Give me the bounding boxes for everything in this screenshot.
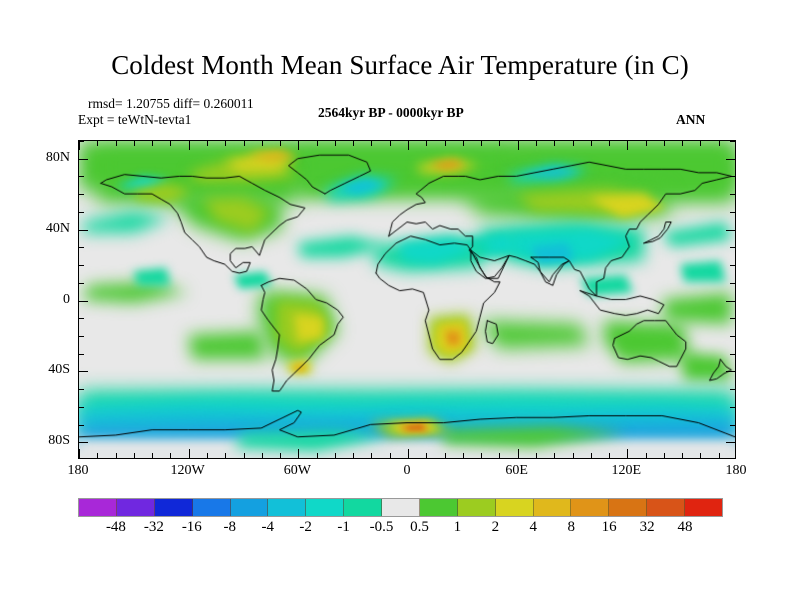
x-tick-top <box>518 141 519 150</box>
period-annotation: 2564kyr BP - 0000kyr BP <box>318 105 464 121</box>
colorbar-tick-label: 16 <box>602 519 617 536</box>
y-tick-right <box>726 159 735 160</box>
colorbar-tick-label: 2 <box>492 519 500 536</box>
colorbar-bin <box>609 499 647 516</box>
y-axis-label: 40N <box>20 221 70 237</box>
x-tick-top <box>682 141 683 146</box>
colorbar-tick-label: 1 <box>454 519 462 536</box>
colorbar-tick-label: 48 <box>678 519 693 536</box>
x-tick-bottom <box>518 449 519 458</box>
y-tick-right <box>730 176 735 177</box>
y-tick-left <box>79 407 84 408</box>
x-axis-label: 0 <box>404 463 411 479</box>
x-tick-bottom <box>317 453 318 458</box>
x-tick-bottom <box>664 453 665 458</box>
x-tick-bottom <box>170 453 171 458</box>
y-tick-right <box>730 141 735 142</box>
colorbar-bin <box>685 499 722 516</box>
y-tick-left <box>79 265 84 266</box>
y-tick-right <box>730 265 735 266</box>
y-tick-left <box>79 442 88 443</box>
colorbar-tick-label: -16 <box>182 519 202 536</box>
x-tick-bottom <box>573 453 574 458</box>
colorbar-bin <box>382 499 420 516</box>
x-tick-bottom <box>700 453 701 458</box>
y-axis-label: 80N <box>20 150 70 166</box>
colorbar-tick-label: 0.5 <box>410 519 429 536</box>
y-tick-right <box>730 336 735 337</box>
y-tick-left <box>79 354 84 355</box>
colorbar-bin <box>496 499 534 516</box>
x-tick-top <box>170 141 171 146</box>
season-annotation: ANN <box>676 112 705 128</box>
y-tick-right <box>730 425 735 426</box>
y-tick-right <box>730 194 735 195</box>
colorbar-bin <box>534 499 572 516</box>
y-axis-label: 80S <box>20 433 70 449</box>
x-tick-bottom <box>426 453 427 458</box>
x-axis-label: 60E <box>505 463 528 479</box>
x-tick-top <box>244 141 245 146</box>
colorbar-tick-label: -48 <box>106 519 126 536</box>
colorbar-bin <box>458 499 496 516</box>
y-tick-right <box>730 283 735 284</box>
x-tick-top <box>116 141 117 146</box>
x-axis-label: 180 <box>68 463 89 479</box>
colorbar-tick-label: 32 <box>640 519 655 536</box>
x-tick-top <box>189 141 190 150</box>
x-tick-top <box>463 141 464 146</box>
x-tick-bottom <box>79 449 80 458</box>
x-tick-top <box>298 141 299 150</box>
x-tick-bottom <box>719 453 720 458</box>
y-tick-left <box>79 389 84 390</box>
colorbar-bin <box>193 499 231 516</box>
rmsd-diff-annotation: rmsd= 1.20755 diff= 0.260011 <box>88 96 254 112</box>
figure-root: Coldest Month Mean Surface Air Temperatu… <box>0 0 800 600</box>
colorbar-bin <box>647 499 685 516</box>
x-tick-top <box>627 141 628 150</box>
x-tick-bottom <box>554 453 555 458</box>
y-tick-right <box>730 407 735 408</box>
x-axis-label: 180 <box>726 463 747 479</box>
y-tick-left <box>79 425 84 426</box>
x-tick-bottom <box>280 453 281 458</box>
x-tick-bottom <box>335 453 336 458</box>
colorbar-bin <box>306 499 344 516</box>
x-tick-bottom <box>262 453 263 458</box>
colorbar-tick-label: -2 <box>299 519 312 536</box>
x-tick-top <box>426 141 427 146</box>
x-tick-bottom <box>371 453 372 458</box>
x-axis-label: 120E <box>612 463 642 479</box>
x-tick-top <box>445 141 446 146</box>
x-tick-bottom <box>152 453 153 458</box>
x-tick-bottom <box>408 449 409 458</box>
x-tick-bottom <box>116 453 117 458</box>
y-tick-left <box>79 247 84 248</box>
y-tick-right <box>730 212 735 213</box>
x-axis-label: 120W <box>171 463 205 479</box>
x-tick-top <box>152 141 153 146</box>
y-tick-left <box>79 318 84 319</box>
x-tick-top <box>609 141 610 146</box>
y-tick-right <box>726 301 735 302</box>
x-tick-top <box>335 141 336 146</box>
colorbar-tick-label: -1 <box>337 519 350 536</box>
x-tick-top <box>207 141 208 146</box>
colorbar-tick-label: -8 <box>224 519 237 536</box>
x-tick-bottom <box>207 453 208 458</box>
colorbar-bin <box>79 499 117 516</box>
x-tick-bottom <box>682 453 683 458</box>
x-tick-bottom <box>499 453 500 458</box>
x-tick-bottom <box>189 449 190 458</box>
x-tick-top <box>499 141 500 146</box>
x-tick-top <box>262 141 263 146</box>
x-tick-top <box>79 141 80 150</box>
x-tick-top <box>646 141 647 146</box>
colorbar-bin <box>268 499 306 516</box>
colorbar-bin <box>231 499 269 516</box>
temperature-anomaly-map <box>79 141 735 458</box>
x-tick-top <box>317 141 318 146</box>
x-tick-top <box>408 141 409 150</box>
y-tick-left <box>79 336 84 337</box>
y-tick-left <box>79 371 88 372</box>
y-axis-label: 0 <box>20 292 70 308</box>
figure-title: Coldest Month Mean Surface Air Temperatu… <box>0 50 800 81</box>
y-tick-right <box>730 354 735 355</box>
x-tick-bottom <box>134 453 135 458</box>
y-tick-left <box>79 301 88 302</box>
x-tick-bottom <box>591 453 592 458</box>
x-tick-bottom <box>536 453 537 458</box>
x-tick-bottom <box>225 453 226 458</box>
x-tick-top <box>225 141 226 146</box>
y-tick-right <box>730 318 735 319</box>
x-tick-top <box>390 141 391 146</box>
x-tick-bottom <box>445 453 446 458</box>
y-tick-right <box>726 371 735 372</box>
colorbar <box>78 498 723 517</box>
x-tick-bottom <box>627 449 628 458</box>
x-tick-top <box>280 141 281 146</box>
colorbar-bin <box>117 499 155 516</box>
colorbar-tick-label: -4 <box>261 519 274 536</box>
colorbar-bin <box>571 499 609 516</box>
x-tick-top <box>536 141 537 146</box>
x-tick-top <box>371 141 372 146</box>
map-plot-area <box>78 140 736 459</box>
x-tick-bottom <box>244 453 245 458</box>
y-axis-label: 40S <box>20 362 70 378</box>
colorbar-tick-label: -32 <box>144 519 164 536</box>
y-tick-left <box>79 212 84 213</box>
colorbar-tick-label: 8 <box>567 519 575 536</box>
y-tick-left <box>79 230 88 231</box>
colorbar-bin <box>344 499 382 516</box>
experiment-annotation: Expt = teWtN-tevta1 <box>78 112 191 128</box>
x-tick-bottom <box>646 453 647 458</box>
x-tick-top <box>719 141 720 146</box>
x-tick-bottom <box>298 449 299 458</box>
x-tick-top <box>481 141 482 146</box>
y-tick-right <box>730 247 735 248</box>
y-tick-left <box>79 194 84 195</box>
colorbar-bin <box>155 499 193 516</box>
x-tick-top <box>700 141 701 146</box>
y-tick-right <box>726 442 735 443</box>
x-tick-bottom <box>353 453 354 458</box>
x-tick-bottom <box>609 453 610 458</box>
x-tick-top <box>353 141 354 146</box>
y-tick-left <box>79 176 84 177</box>
colorbar-tick-label: 4 <box>530 519 538 536</box>
x-tick-top <box>591 141 592 146</box>
x-tick-top <box>573 141 574 146</box>
y-tick-right <box>730 389 735 390</box>
x-axis-label: 60W <box>284 463 311 479</box>
y-tick-left <box>79 283 84 284</box>
colorbar-bin <box>420 499 458 516</box>
x-tick-top <box>664 141 665 146</box>
y-tick-left <box>79 141 84 142</box>
x-tick-bottom <box>97 453 98 458</box>
colorbar-tick-label: -0.5 <box>370 519 394 536</box>
y-tick-left <box>79 159 88 160</box>
x-tick-top <box>134 141 135 146</box>
y-tick-right <box>726 230 735 231</box>
x-tick-bottom <box>463 453 464 458</box>
x-tick-top <box>554 141 555 146</box>
x-tick-top <box>97 141 98 146</box>
x-tick-bottom <box>481 453 482 458</box>
x-tick-bottom <box>390 453 391 458</box>
